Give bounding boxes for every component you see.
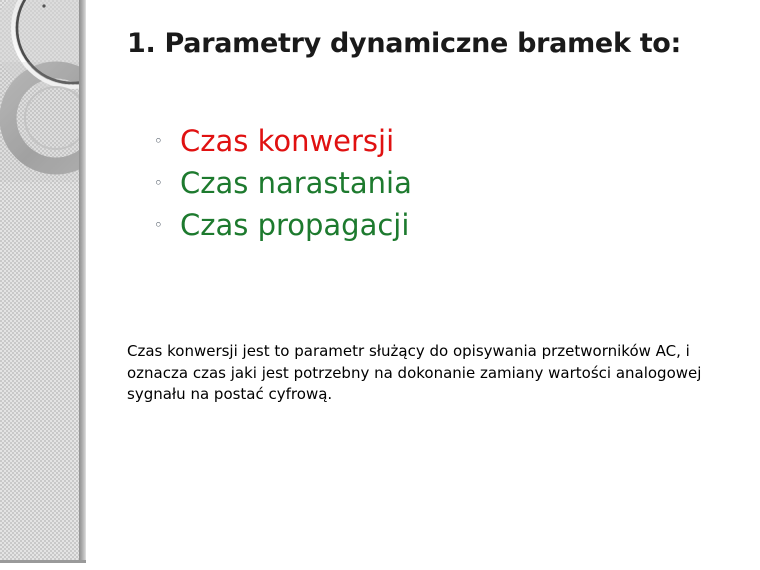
sidebar-edge-line	[79, 0, 86, 563]
decorative-sidebar	[0, 0, 86, 563]
bullet-label: Czas konwersji	[180, 124, 394, 158]
bullet-label: Czas narastania	[180, 166, 412, 200]
slide-canvas: 1. Parametry dynamiczne bramek to: ◦ Cza…	[0, 0, 760, 570]
bullet-item-czas-konwersji: ◦ Czas konwersji	[152, 120, 712, 162]
sidebar-bottom-edge-line	[0, 560, 86, 563]
slide-content: 1. Parametry dynamiczne bramek to: ◦ Cza…	[88, 0, 760, 570]
body-paragraph: Czas konwersji jest to parametr służący …	[127, 341, 715, 406]
hollow-circle-bullet-icon: ◦	[154, 204, 163, 246]
bullet-list: ◦ Czas konwersji ◦ Czas narastania ◦ Cza…	[152, 120, 712, 246]
hollow-circle-bullet-icon: ◦	[154, 162, 163, 204]
hollow-circle-bullet-icon: ◦	[154, 120, 163, 162]
bullet-item-czas-propagacji: ◦ Czas propagacji	[152, 204, 712, 246]
sidebar-texture	[0, 0, 79, 563]
slide-title: 1. Parametry dynamiczne bramek to:	[127, 28, 737, 59]
bullet-label: Czas propagacji	[180, 208, 409, 242]
bullet-item-czas-narastania: ◦ Czas narastania	[152, 162, 712, 204]
